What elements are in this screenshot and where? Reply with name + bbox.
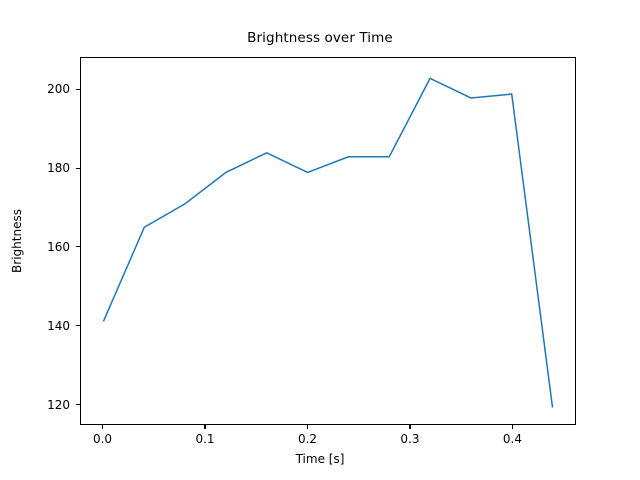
chart-title: Brightness over Time [0, 30, 640, 46]
x-tick-label: 0.3 [400, 432, 419, 446]
x-tick-label: 0.0 [93, 432, 112, 446]
x-tick-mark [307, 425, 308, 429]
x-tick-label: 0.4 [503, 432, 522, 446]
y-tick-label: 180 [0, 161, 70, 175]
x-tick-mark [512, 425, 513, 429]
figure-canvas: Brightness over Time 120140160180200 0.0… [0, 0, 640, 480]
x-tick-label: 0.2 [298, 432, 317, 446]
x-axis-label: Time [s] [0, 452, 640, 466]
x-tick-label: 0.1 [195, 432, 214, 446]
y-tick-label: 140 [0, 319, 70, 333]
x-tick-mark [102, 425, 103, 429]
x-tick-mark [409, 425, 410, 429]
brightness-line-series [103, 78, 552, 407]
y-tick-label: 200 [0, 82, 70, 96]
plot-axes-area [80, 57, 576, 425]
y-tick-label: 120 [0, 398, 70, 412]
y-axis-label: Brightness [10, 209, 24, 273]
x-tick-mark [204, 425, 205, 429]
line-chart-svg [81, 58, 575, 424]
